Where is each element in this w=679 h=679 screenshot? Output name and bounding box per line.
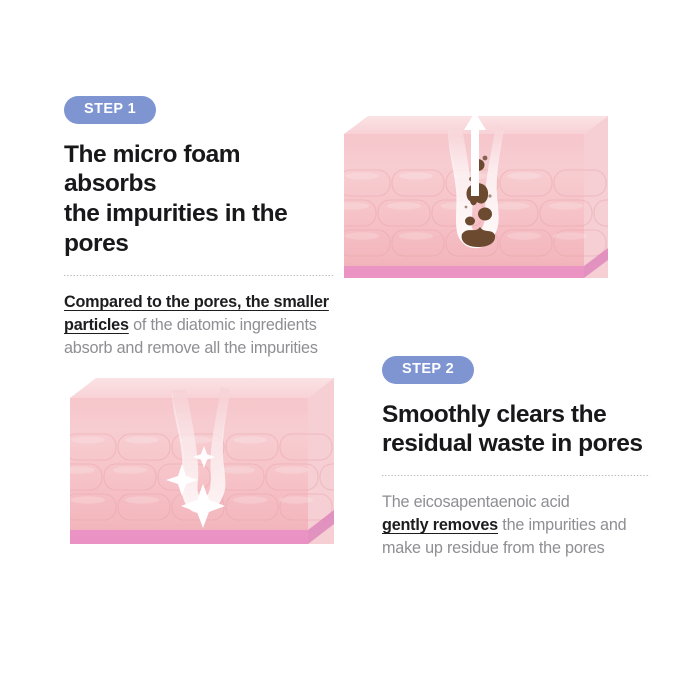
step-2-text-block: STEP 2 Smoothly clears the residual wast… xyxy=(382,356,650,560)
step-2-figure xyxy=(70,368,334,568)
step-2-body-highlight: gently removes xyxy=(382,516,498,534)
step-2-heading: Smoothly clears the residual waste in po… xyxy=(382,400,650,460)
step-1-body-line1-rest: of the diatomic ingredients xyxy=(129,316,317,334)
step-1-heading: The micro foam absorbs the impurities in… xyxy=(64,140,334,260)
step-2-body: The eicosapentaenoic acid gently removes… xyxy=(382,491,650,560)
step-2-body-line3: make up residue from the pores xyxy=(382,537,650,560)
step-2-badge: STEP 2 xyxy=(382,356,474,384)
step-2-body-line1: The eicosapentaenoic acid xyxy=(382,491,650,514)
step-1-text-block: STEP 1 The micro foam absorbs the impuri… xyxy=(64,96,334,360)
step-1-body: Compared to the pores, the smaller parti… xyxy=(64,291,334,360)
step-1-badge: STEP 1 xyxy=(64,96,156,124)
infographic-root: STEP 1 The micro foam absorbs the impuri… xyxy=(0,0,679,679)
step-1-divider xyxy=(64,275,334,276)
step-1-body-line2: absorb and remove all the impurities xyxy=(64,337,334,360)
step-2-body-line2-rest: the impurities and xyxy=(498,516,626,534)
step-2-divider xyxy=(382,475,650,476)
step-1-figure xyxy=(344,108,608,304)
